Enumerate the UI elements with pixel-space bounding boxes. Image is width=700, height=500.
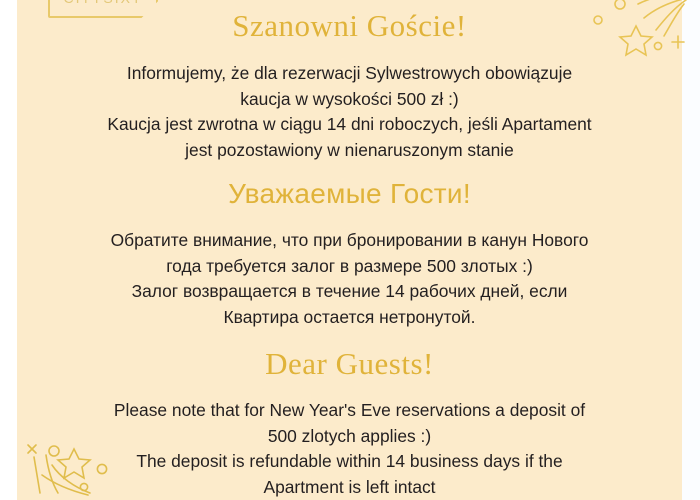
body-russian-line-2: года требуется залог в размере 500 злоты…: [17, 254, 682, 280]
body-russian-line-4: Квартира остается нетронутой.: [17, 305, 682, 331]
poster-content: Szanowni Goście! Informujemy, że dla rez…: [17, 0, 682, 500]
heading-polish: Szanowni Goście!: [17, 10, 682, 43]
body-polish: Informujemy, że dla rezerwacji Sylwestro…: [17, 61, 682, 163]
right-edge-strip: [682, 0, 700, 500]
heading-polish-wrap: Szanowni Goście!: [17, 10, 682, 43]
body-english-line-4: Apartment is left intact: [17, 475, 682, 500]
body-polish-line-3: Kaucja jest zwrotna w ciągu 14 dni roboc…: [17, 112, 682, 138]
body-english: Please note that for New Year's Eve rese…: [17, 398, 682, 500]
notice-poster: CITYSIXT S: [0, 0, 700, 500]
body-russian-line-3: Залог возвращается в течение 14 рабочих …: [17, 279, 682, 305]
body-english-line-2: 500 zlotych applies :): [17, 424, 682, 450]
body-russian: Обратите внимание, что при бронировании …: [17, 228, 682, 330]
body-english-line-1: Please note that for New Year's Eve rese…: [17, 398, 682, 424]
heading-russian-wrap: Уважаемые Гости!: [17, 179, 682, 208]
body-english-line-3: The deposit is refundable within 14 busi…: [17, 449, 682, 475]
heading-english-wrap: Dear Guests!: [17, 348, 682, 381]
body-polish-line-1: Informujemy, że dla rezerwacji Sylwestro…: [17, 61, 682, 87]
body-polish-line-2: kaucja w wysokości 500 zł :): [17, 87, 682, 113]
body-polish-line-4: jest pozostawiony w nienaruszonym stanie: [17, 138, 682, 164]
left-edge-strip: [0, 0, 17, 500]
body-russian-line-1: Обратите внимание, что при бронировании …: [17, 228, 682, 254]
heading-english: Dear Guests!: [17, 348, 682, 381]
heading-russian: Уважаемые Гости!: [17, 179, 682, 208]
